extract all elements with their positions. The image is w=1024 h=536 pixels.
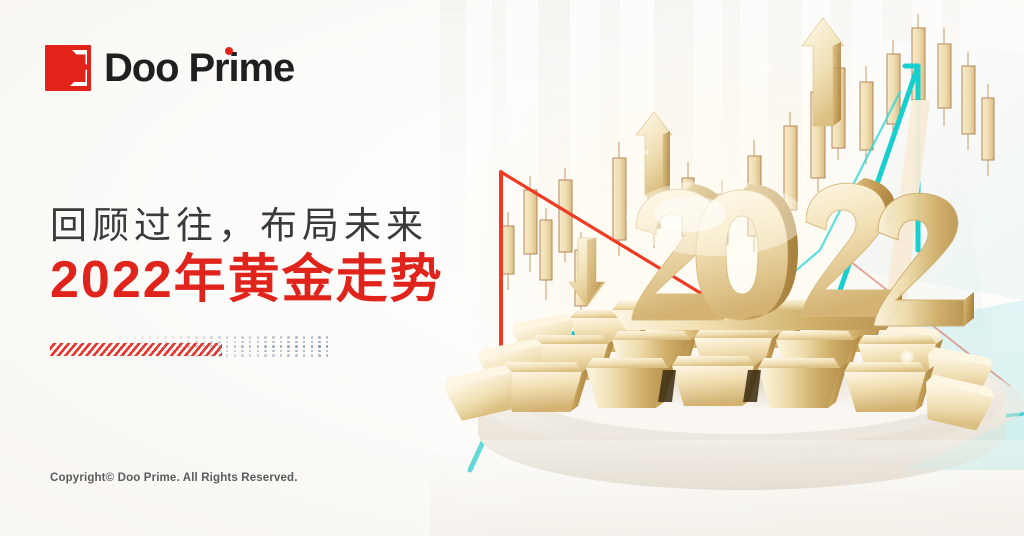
dot-grid-dot [210,336,213,339]
headline-subtitle: 回顾过往，布局未来 [50,206,428,247]
dot-grid-dot [195,341,198,344]
dot-grid-dot [203,336,206,339]
dot-grid-dot [295,354,298,357]
dot-grid-dot [295,350,298,353]
dot-grid-dot [164,341,167,344]
dot-grid-dot [295,341,298,344]
dot-grid-dot [249,350,252,353]
dot-grid-dot [326,336,329,339]
dot-grid-dot [210,341,213,344]
dot-grid-dot [133,350,136,353]
dot-grid-dot [164,336,167,339]
dot-grid-dot [303,336,306,339]
dot-grid-dot [180,341,183,344]
dot-grid-dot [287,336,290,339]
dot-grid-dot [303,345,306,348]
dot-grid-dot [180,350,183,353]
dot-grid-dot [195,336,198,339]
dot-grid-dot [141,341,144,344]
dot-grid-dot [218,341,221,344]
dot-grid-dot [164,354,167,357]
copyright-text: Copyright© Doo Prime. All Rights Reserve… [50,472,298,484]
digit-0 [696,184,798,320]
glass-panels [820,40,1024,470]
dot-grid-dot [149,336,152,339]
dot-grid-dot [126,336,129,339]
dot-grid-dot [326,354,329,357]
dot-grid-dot [218,345,221,348]
dot-grid-dot [133,341,136,344]
dot-grid-dot [264,336,267,339]
dot-grid-dot [226,354,229,357]
dot-grid-dot [126,345,129,348]
dot-grid-dot [203,350,206,353]
dot-grid-dot [234,336,237,339]
dot-grid-dot [280,345,283,348]
dot-grid-dot [318,341,321,344]
dot-grid-dot [187,350,190,353]
dot-grid-dot [287,341,290,344]
dot-grid-dot [241,350,244,353]
background-bars [430,0,1024,470]
brand-logo[interactable]: Doo Prime [45,45,294,91]
dot-grid-dot [311,354,314,357]
dot-grid-dot [241,341,244,344]
dot-grid-dot [187,354,190,357]
up-arrow-icon [636,18,844,196]
dot-grid-dot [157,350,160,353]
sparkle-icon [900,350,914,364]
dot-grid-dot [226,336,229,339]
dot-grid-dot [241,354,244,357]
dot-grid-dot [133,354,136,357]
brand-accent-dot-icon [225,47,233,55]
dot-grid-dot [257,354,260,357]
candlestick-chart [502,14,994,318]
sparkle-icon [762,62,771,71]
sparkle-icon [586,40,591,45]
dot-grid-dot [218,336,221,339]
dot-grid-dot [287,354,290,357]
dot-grid-dot [280,341,283,344]
dot-grid-dot [157,341,160,344]
cream-ribbon [864,100,930,470]
dot-grid-dot [318,350,321,353]
dot-grid [118,336,340,358]
decorative-accent [50,336,340,362]
sparkle-icon [700,110,706,116]
dot-grid-dot [257,341,260,344]
dot-grid-dot [326,341,329,344]
digit-2-c [874,193,974,326]
dot-grid-dot [318,354,321,357]
gold-ingot-stack [442,306,996,433]
dot-grid-dot [272,354,275,357]
dot-grid-dot [272,341,275,344]
dot-grid-dot [272,350,275,353]
dot-grid-dot [226,350,229,353]
dot-grid-dot [272,345,275,348]
dot-grid-dot [195,350,198,353]
dot-grid-dot [164,350,167,353]
dot-grid-dot [118,336,121,339]
dot-grid-dot [210,354,213,357]
dot-grid-dot [118,341,121,344]
dot-grid-dot [303,341,306,344]
dot-grid-dot [157,336,160,339]
dot-grid-dot [287,350,290,353]
dot-grid-dot [257,345,260,348]
promo-banner: Doo Prime 回顾过往，布局未来 2022年黄金走势 Copyright©… [0,0,1024,536]
dot-grid-dot [280,336,283,339]
dot-grid-dot [241,336,244,339]
dot-grid-dot [218,350,221,353]
ingot-row-front [442,356,996,433]
dot-grid-dot [203,345,206,348]
dot-grid-dot [118,350,121,353]
dot-grid-dot [118,345,121,348]
dot-grid-dot [326,350,329,353]
dot-grid-dot [172,341,175,344]
dot-grid-dot [126,341,129,344]
dot-grid-dot [264,350,267,353]
dot-grid-dot [318,345,321,348]
dot-grid-dot [241,345,244,348]
dot-grid-dot [141,345,144,348]
dot-grid-dot [180,336,183,339]
dot-grid-dot [210,345,213,348]
down-arrow-icon [569,238,605,306]
dot-grid-dot [141,336,144,339]
dot-grid-dot [318,336,321,339]
dot-grid-dot [295,345,298,348]
dot-grid-dot [149,350,152,353]
dot-grid-dot [264,354,267,357]
dot-grid-dot [287,345,290,348]
digit-2-a [632,184,732,320]
dot-grid-dot [257,336,260,339]
dot-grid-dot [264,341,267,344]
dot-grid-dot [218,354,221,357]
dot-grid-dot [249,341,252,344]
year-2022-3d [612,178,974,330]
dot-grid-dot [264,345,267,348]
dot-grid-dot [126,354,129,357]
dot-grid-dot [234,341,237,344]
dot-grid-dot [195,345,198,348]
dot-grid-dot [203,354,206,357]
dot-grid-dot [303,350,306,353]
sparkle-icon [880,46,887,53]
dot-grid-dot [311,345,314,348]
dot-grid-dot [187,341,190,344]
brand-wordmark: Doo Prime [104,48,294,88]
dot-grid-dot [311,350,314,353]
dot-grid-dot [149,341,152,344]
dot-grid-dot [280,350,283,353]
dot-grid-dot [311,336,314,339]
dot-grid-dot [187,345,190,348]
dot-grid-dot [180,354,183,357]
digit-2-b [802,178,902,316]
dot-grid-dot [172,350,175,353]
dot-grid-dot [149,345,152,348]
dot-grid-dot [249,336,252,339]
headline-title: 2022年黄金走势 [50,252,444,309]
dot-grid-dot [226,341,229,344]
circular-podium [460,338,1024,490]
ingot-row-middle [476,329,994,398]
dot-grid-dot [195,354,198,357]
dot-grid-dot [126,350,129,353]
sparkle-icon [644,150,649,155]
dot-grid-dot [249,354,252,357]
cyan-glass-shard [905,414,1024,470]
dot-grid-dot [311,341,314,344]
dot-grid-dot [326,345,329,348]
dot-grid-dot [272,336,275,339]
dot-grid-dot [226,345,229,348]
dot-grid-dot [203,341,206,344]
dot-grid-dot [295,336,298,339]
dot-grid-dot [172,345,175,348]
dot-grid-dot [133,345,136,348]
dot-grid-dot [234,350,237,353]
ingot-row-back [511,306,942,367]
dot-grid-dot [234,354,237,357]
dot-grid-dot [210,350,213,353]
dot-grid-dot [257,350,260,353]
dot-grid-dot [180,345,183,348]
dot-grid-dot [164,345,167,348]
dot-grid-dot [234,345,237,348]
dot-grid-dot [303,354,306,357]
dot-grid-dot [141,350,144,353]
dot-grid-dot [157,354,160,357]
dot-grid-dot [141,354,144,357]
sparkle-icon [930,130,936,136]
doo-prime-logo-mark-icon [45,45,91,91]
dot-grid-dot [157,345,160,348]
dot-grid-dot [172,354,175,357]
dot-grid-dot [280,354,283,357]
dot-grid-dot [187,336,190,339]
dot-grid-dot [118,354,121,357]
dot-grid-dot [133,336,136,339]
dot-grid-dot [149,354,152,357]
dot-grid-dot [172,336,175,339]
brand-wordmark-text: Doo Prime [104,46,294,90]
dot-grid-dot [249,345,252,348]
trend-lines [470,66,1024,470]
